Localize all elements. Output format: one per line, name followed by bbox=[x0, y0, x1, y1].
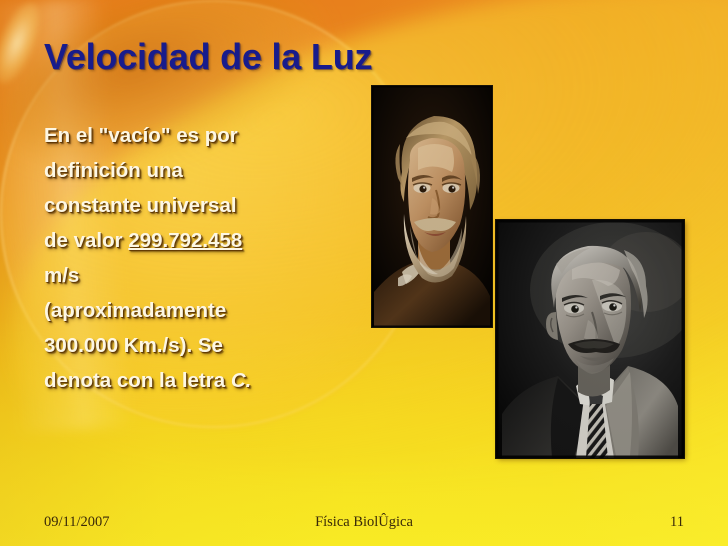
body-line-3: constante universal bbox=[44, 188, 356, 223]
body-line-4: de valor 299.792.458 bbox=[44, 223, 356, 258]
albert-michelson-image bbox=[496, 220, 684, 458]
body-line-6: (aproximadamente bbox=[44, 293, 356, 328]
footer-title: Física BiolÛgica bbox=[0, 514, 728, 531]
michelson-portrait-graphic bbox=[496, 220, 684, 458]
light-speed-symbol: C. bbox=[231, 369, 252, 392]
slide-body-text: En el "vacío" es por definición una cons… bbox=[44, 118, 356, 398]
speed-of-light-value: 299.792.458 bbox=[128, 229, 242, 252]
slide-title: Velocidad de la Luz bbox=[44, 36, 372, 78]
footer-page-number: 11 bbox=[670, 514, 684, 531]
body-line-1: En el "vacío" es por bbox=[44, 118, 356, 153]
body-line-8: denota con la letra C. bbox=[44, 363, 356, 398]
body-line-7: 300.000 Km./s). Se bbox=[44, 328, 356, 363]
galileo-galilei-image bbox=[372, 86, 492, 327]
body-line-8-prefix: denota con la letra bbox=[44, 369, 231, 392]
body-line-4-prefix: de valor bbox=[44, 229, 128, 252]
body-line-2: definición una bbox=[44, 153, 356, 188]
galileo-portrait-graphic bbox=[372, 86, 492, 327]
presentation-slide: Velocidad de la Luz En el "vacío" es por… bbox=[0, 0, 728, 546]
body-line-5: m/s bbox=[44, 258, 356, 293]
